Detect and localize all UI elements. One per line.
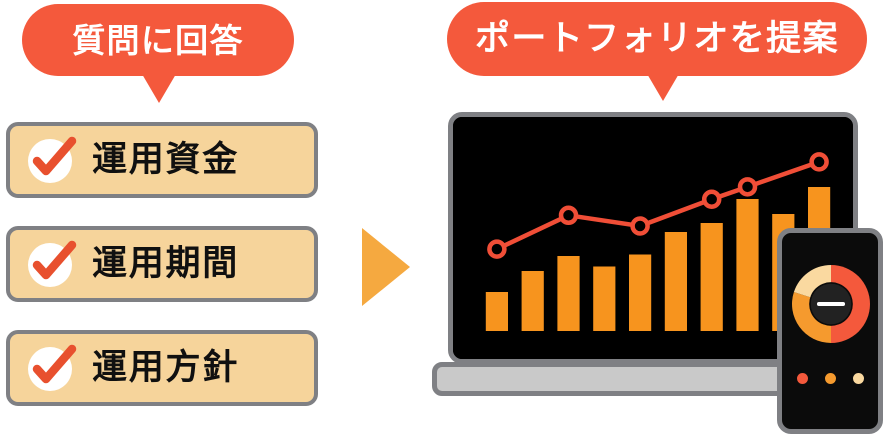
legend-dot-c — [853, 373, 864, 384]
checklist-item-policy[interactable]: 運用方針 — [6, 330, 318, 406]
phone-donut-legend — [782, 373, 878, 384]
phone-donut-chart — [792, 265, 870, 343]
checklist-item-label: 運用期間 — [92, 247, 239, 282]
check-circle-icon — [24, 133, 78, 187]
bar — [701, 223, 723, 331]
bar — [557, 256, 579, 331]
speech-bubble-right-text: ポートフォリオを提案 — [475, 22, 839, 57]
line-marker — [633, 218, 648, 233]
right-triangle-arrow-icon — [362, 228, 410, 306]
legend-dot-b — [825, 373, 836, 384]
line-marker — [704, 192, 719, 207]
checklist-item-label: 運用方針 — [92, 351, 239, 386]
bar — [593, 267, 615, 332]
speech-bubble-left-tail-icon — [142, 74, 176, 103]
line-marker — [812, 154, 827, 169]
checklist-item-label: 運用資金 — [92, 143, 239, 178]
check-circle-icon — [24, 341, 78, 395]
check-glyph-icon — [24, 133, 78, 187]
line-marker — [489, 242, 504, 257]
line-marker — [740, 179, 755, 194]
bar — [665, 232, 687, 331]
legend-dot-a — [797, 373, 808, 384]
line-marker — [561, 208, 576, 223]
checklist-item-period[interactable]: 運用期間 — [6, 226, 318, 302]
speech-bubble-right-tail-icon — [646, 72, 680, 101]
illustration-canvas: 質問に回答 ポートフォリオを提案 運用資金 運用期間 — [0, 0, 889, 440]
bar — [522, 271, 544, 331]
smartphone-illustration — [777, 228, 883, 434]
donut-dash-icon — [817, 302, 845, 306]
check-glyph-icon — [24, 237, 78, 291]
check-glyph-icon — [24, 341, 78, 395]
speech-bubble-propose-portfolio: ポートフォリオを提案 — [447, 2, 867, 76]
check-circle-icon — [24, 237, 78, 291]
speech-bubble-left-text: 質問に回答 — [72, 24, 244, 57]
bar — [736, 199, 758, 331]
checklist-item-funds[interactable]: 運用資金 — [6, 122, 318, 198]
bar — [486, 292, 508, 331]
speech-bubble-answer-questions: 質問に回答 — [22, 4, 294, 76]
bar — [629, 255, 651, 332]
